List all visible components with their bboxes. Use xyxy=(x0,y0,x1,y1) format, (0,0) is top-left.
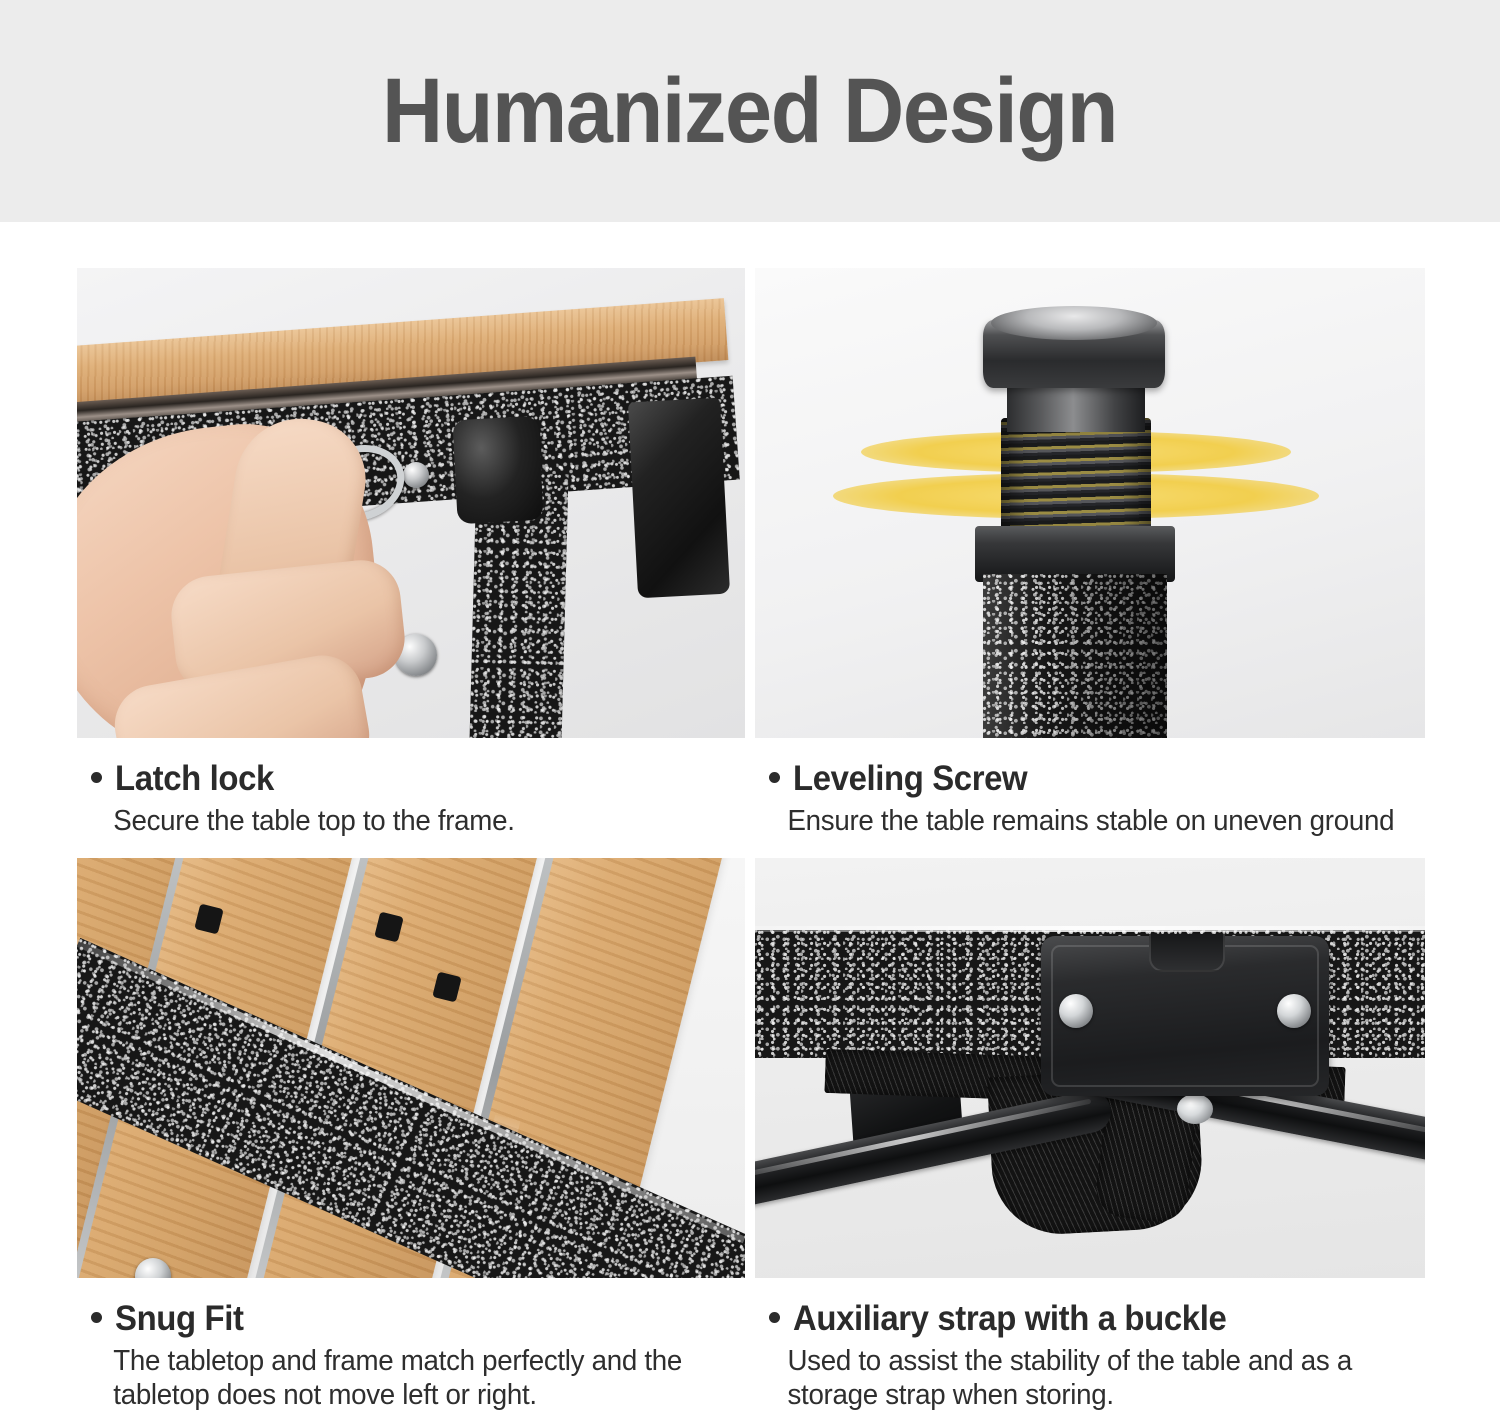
feature-card-latch-lock: Latch lock Secure the table top to the f… xyxy=(77,268,745,838)
bullet-icon xyxy=(769,1312,780,1323)
latch-lock-caption: Latch lock Secure the table top to the f… xyxy=(77,738,745,838)
feature-card-snug-fit: Snug Fit The tabletop and frame match pe… xyxy=(77,858,745,1412)
buckle-rivet-left xyxy=(1059,994,1093,1028)
frame-rail-highlight xyxy=(755,926,1425,932)
snug-fit-caption: Snug Fit The tabletop and frame match pe… xyxy=(77,1278,745,1412)
black-roller-cam xyxy=(452,416,543,524)
snug-fit-description: The tabletop and frame match perfectly a… xyxy=(77,1338,715,1412)
latch-lock-title-row: Latch lock xyxy=(77,760,745,798)
table-leg-square-tube xyxy=(983,574,1167,738)
buckle-plate xyxy=(1041,936,1329,1096)
bullet-icon xyxy=(769,772,780,783)
plastic-corner-bracket xyxy=(628,398,730,599)
latch-lock-description: Secure the table top to the frame. xyxy=(77,798,715,838)
page-header-band: Humanized Design xyxy=(0,0,1500,222)
feature-card-leveling-screw: Leveling Screw Ensure the table remains … xyxy=(755,268,1425,838)
feature-card-auxiliary-strap: Auxiliary strap with a buckle Used to as… xyxy=(755,858,1425,1412)
screw-threaded-shaft xyxy=(1001,418,1151,543)
bullet-icon xyxy=(91,772,102,783)
leveling-screw-title-row: Leveling Screw xyxy=(755,760,1425,798)
leveling-screw-photo xyxy=(755,268,1425,738)
snug-fit-title: Snug Fit xyxy=(115,1300,244,1338)
latch-lock-photo xyxy=(77,268,745,738)
leveling-screw-description: Ensure the table remains stable on uneve… xyxy=(755,798,1395,838)
page-title: Humanized Design xyxy=(382,65,1117,157)
buckle-rivet-right xyxy=(1277,994,1311,1028)
auxiliary-strap-title: Auxiliary strap with a buckle xyxy=(793,1300,1226,1338)
auxiliary-strap-caption: Auxiliary strap with a buckle Used to as… xyxy=(755,1278,1425,1412)
leveling-screw-title: Leveling Screw xyxy=(793,760,1027,798)
snug-fit-photo xyxy=(77,858,745,1278)
auxiliary-strap-title-row: Auxiliary strap with a buckle xyxy=(755,1300,1425,1338)
latch-lock-title: Latch lock xyxy=(115,760,274,798)
auxiliary-strap-photo xyxy=(755,858,1425,1278)
latch-pin-screw xyxy=(403,462,429,488)
buckle-notch xyxy=(1149,934,1225,972)
snug-fit-title-row: Snug Fit xyxy=(77,1300,745,1338)
center-rivet xyxy=(1177,1094,1213,1124)
screw-head-top-face xyxy=(991,306,1157,340)
auxiliary-strap-description: Used to assist the stability of the tabl… xyxy=(755,1338,1395,1412)
bullet-icon xyxy=(91,1312,102,1323)
leveling-screw-caption: Leveling Screw Ensure the table remains … xyxy=(755,738,1425,838)
